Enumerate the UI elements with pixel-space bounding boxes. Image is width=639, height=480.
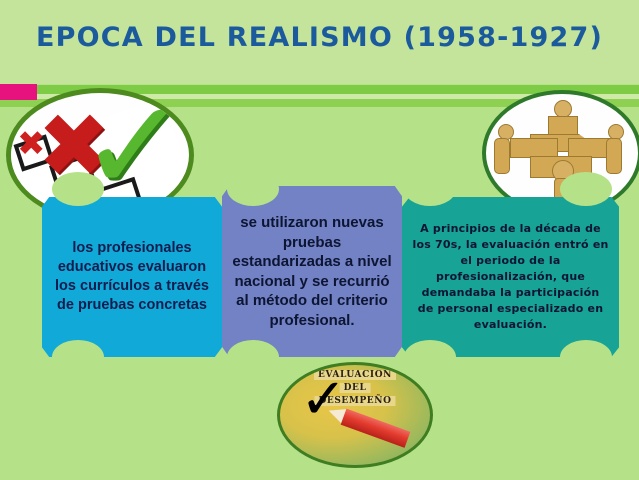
puzzle-piece-right[interactable]: A principios de la década de los 70s, la… <box>402 197 619 357</box>
figure-body-west-icon <box>494 138 510 174</box>
puzzle-notch-bottom-1 <box>52 340 104 374</box>
page-title: EPOCA DEL REALISMO (1958-1927) <box>0 22 639 53</box>
magenta-accent-tab <box>0 84 37 100</box>
puzzle-notch-top-3 <box>404 172 456 206</box>
puzzle-notch-top-4 <box>560 172 612 206</box>
puzzle-piece-left-text: los profesionales educativos evaluaron l… <box>42 239 222 315</box>
arrow-piece-left-icon <box>510 138 558 158</box>
figure-body-east-icon <box>606 138 622 174</box>
puzzle-piece-middle-text: se utilizaron nuevas pruebas estandariza… <box>222 213 402 330</box>
puzzle-notch-bottom-2 <box>227 340 279 374</box>
puzzle-piece-right-text: A principios de la década de los 70s, la… <box>402 221 619 333</box>
puzzle-row: los profesionales educativos evaluaron l… <box>0 180 639 365</box>
puzzle-notch-bottom-3 <box>404 340 456 374</box>
slide-canvas: EPOCA DEL REALISMO (1958-1927) ✖ ✖ ✓ los… <box>0 0 639 480</box>
evaluacion-desempeno-icon: EVALUACION DEL DESEMPEÑO ✓ <box>277 362 433 468</box>
puzzle-notch-bottom-4 <box>560 340 612 374</box>
puzzle-notch-top-2 <box>227 172 279 206</box>
puzzle-piece-left[interactable]: los profesionales educativos evaluaron l… <box>42 197 222 357</box>
figure-body-top-icon <box>548 116 578 136</box>
puzzle-notch-top-1 <box>52 172 104 206</box>
puzzle-piece-middle[interactable]: se utilizaron nuevas pruebas estandariza… <box>222 186 402 357</box>
pencil-body-icon <box>341 409 411 448</box>
